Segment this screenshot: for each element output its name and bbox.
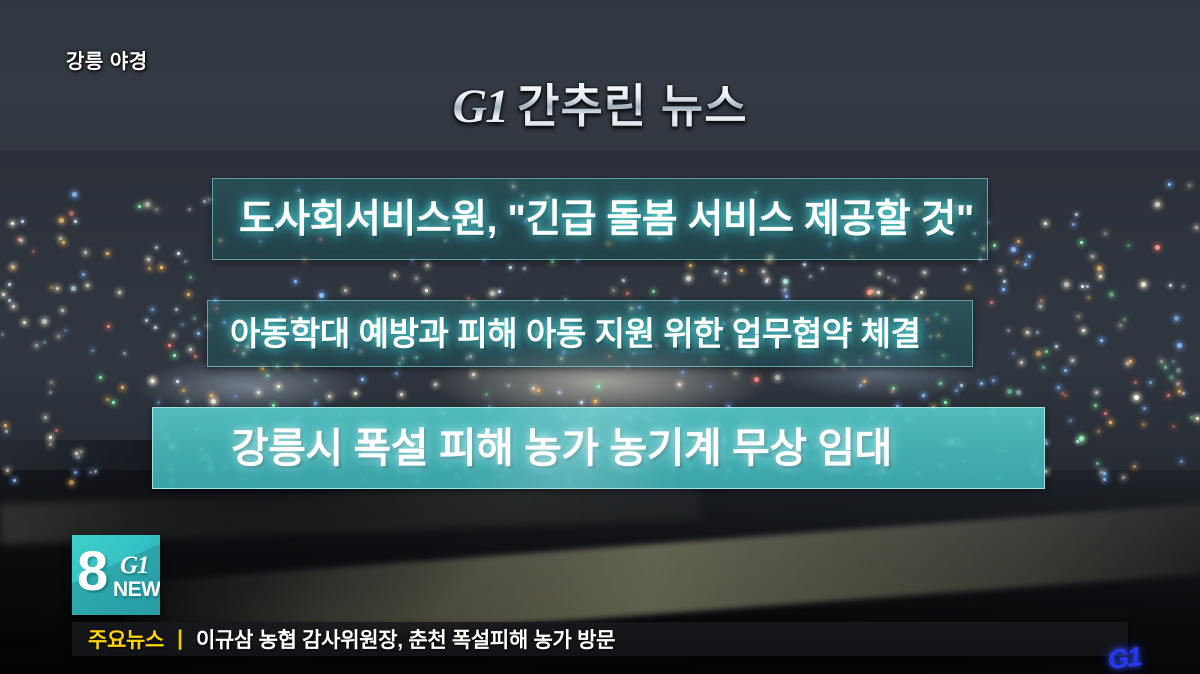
headline-text-1: 도사회서비스원, "긴급 돌봄 서비스 제공할 것" [239,200,974,239]
headline-bar-3[interactable]: 강릉시 폭설 피해 농가 농기계 무상 임대 [152,407,1045,489]
station-logo-inner: 8 G1 NEWS [72,535,160,615]
ticker-category-label: 주요뉴스 [88,624,164,654]
headline-text-3: 강릉시 폭설 피해 농가 농기계 무상 임대 [231,428,892,469]
program-title: G1간추린 뉴스 [0,83,1200,131]
station-suffix: NEWS [113,579,160,600]
channel-number: 8 [77,543,108,599]
headline-bar-2[interactable]: 아동학대 예방과 피해 아동 지원 위한 업무협약 체결 [207,300,973,367]
broadcast-frame: 강릉 야경 G1간추린 뉴스 도사회서비스원, "긴급 돌봄 서비스 제공할 것… [0,0,1200,674]
g1-logo-text: G1 [452,80,507,133]
location-caption: 강릉 야경 [66,45,148,74]
station-logo: 8 G1 NEWS [72,535,160,615]
headline-bar-1[interactable]: 도사회서비스원, "긴급 돌봄 서비스 제공할 것" [212,178,988,260]
ticker-headline: 이규삼 농협 감사위원장, 춘천 폭설피해 농가 방문 [196,624,615,654]
station-brand: G1 [120,553,149,578]
news-ticker: 주요뉴스 | 이규삼 농협 감사위원장, 춘천 폭설피해 농가 방문 [72,622,1128,656]
ticker-separator: | [177,627,183,651]
program-title-text: 간추린 뉴스 [517,80,747,132]
headline-text-2: 아동학대 예방과 피해 아동 지원 위한 업무협약 체결 [230,317,921,350]
